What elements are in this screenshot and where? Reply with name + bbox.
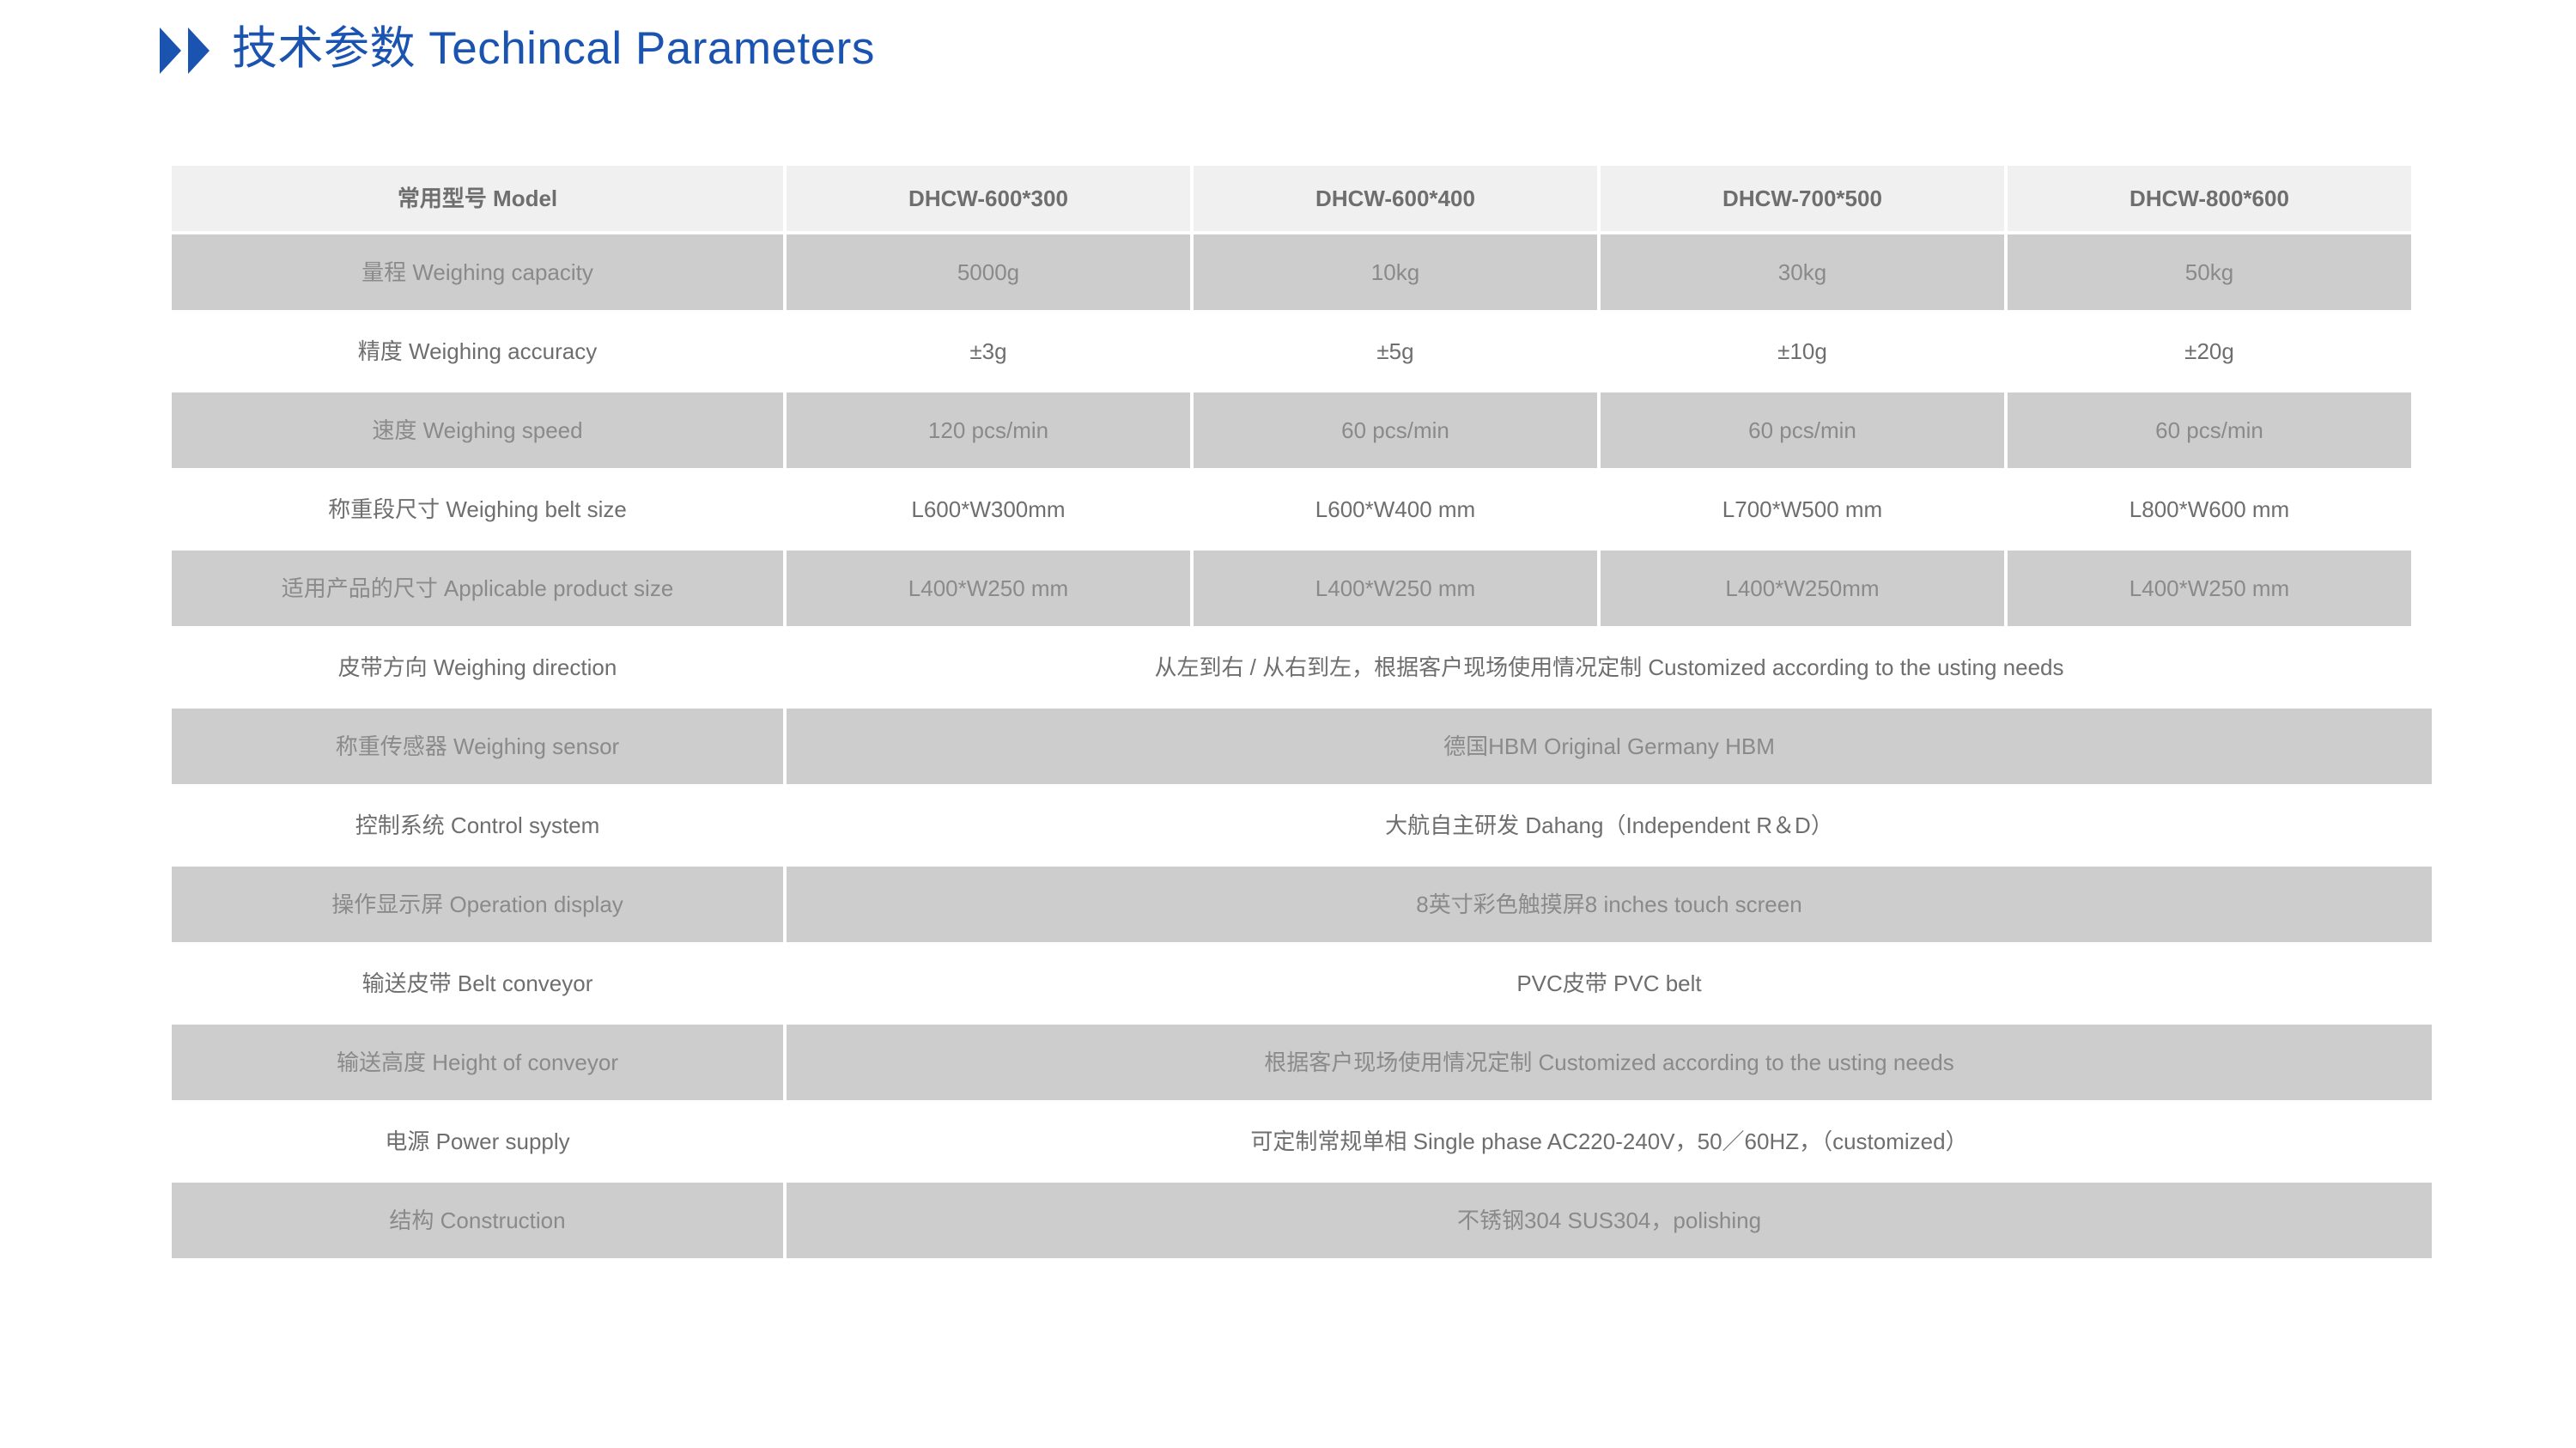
table-row: 电源 Power supply可定制常规单相 Single phase AC22… <box>172 1104 2432 1179</box>
table-row: 皮带方向 Weighing direction从左到右 / 从右到左，根据客户现… <box>172 630 2432 705</box>
row-value: 30kg <box>1601 234 2004 310</box>
row-value: ±20g <box>2008 313 2411 389</box>
column-header-4: DHCW-800*600 <box>2008 166 2411 231</box>
table-header-row: 常用型号 ModelDHCW-600*300DHCW-600*400DHCW-7… <box>172 166 2432 231</box>
row-value: L400*W250 mm <box>2008 551 2411 626</box>
page-title: 技术参数 Techincal Parameters <box>160 22 875 74</box>
row-value-merged: 从左到右 / 从右到左，根据客户现场使用情况定制 Customized acco… <box>787 630 2432 705</box>
row-value: ±10g <box>1601 313 2004 389</box>
row-value: 120 pcs/min <box>787 392 1190 468</box>
double-triangle-icon <box>160 27 210 74</box>
table-row: 精度 Weighing accuracy±3g±5g±10g±20g <box>172 313 2432 389</box>
table-row: 输送高度 Height of conveyor根据客户现场使用情况定制 Cust… <box>172 1025 2432 1100</box>
row-value: 60 pcs/min <box>1194 392 1597 468</box>
column-header-2: DHCW-600*400 <box>1194 166 1597 231</box>
row-value: ±5g <box>1194 313 1597 389</box>
technical-parameters-page: 技术参数 Techincal Parameters 常用型号 ModelDHCW… <box>0 0 2576 1448</box>
row-label: 适用产品的尺寸 Applicable product size <box>172 551 783 626</box>
row-value: 60 pcs/min <box>2008 392 2411 468</box>
table-row: 称重段尺寸 Weighing belt sizeL600*W300mmL600*… <box>172 472 2432 547</box>
row-value: L700*W500 mm <box>1601 472 2004 547</box>
row-value: L400*W250 mm <box>1194 551 1597 626</box>
row-value: L800*W600 mm <box>2008 472 2411 547</box>
row-label: 称重段尺寸 Weighing belt size <box>172 472 783 547</box>
table-row: 结构 Construction不锈钢304 SUS304，polishing <box>172 1183 2432 1258</box>
row-label: 电源 Power supply <box>172 1104 783 1179</box>
row-value: L400*W250mm <box>1601 551 2004 626</box>
row-label: 量程 Weighing capacity <box>172 234 783 310</box>
row-value-merged: 可定制常规单相 Single phase AC220-240V，50／60HZ，… <box>787 1104 2432 1179</box>
row-label: 结构 Construction <box>172 1183 783 1258</box>
row-label: 控制系统 Control system <box>172 788 783 863</box>
table-row: 适用产品的尺寸 Applicable product sizeL400*W250… <box>172 551 2432 626</box>
row-value: L400*W250 mm <box>787 551 1190 626</box>
row-value-merged: 不锈钢304 SUS304，polishing <box>787 1183 2432 1258</box>
row-label: 速度 Weighing speed <box>172 392 783 468</box>
column-header-model: 常用型号 Model <box>172 166 783 231</box>
row-value: 5000g <box>787 234 1190 310</box>
row-label: 输送皮带 Belt conveyor <box>172 946 783 1021</box>
row-value-merged: 大航自主研发 Dahang（Independent R＆D） <box>787 788 2432 863</box>
page-title-text: 技术参数 Techincal Parameters <box>232 26 875 71</box>
row-value: 50kg <box>2008 234 2411 310</box>
row-value: L600*W400 mm <box>1194 472 1597 547</box>
row-label: 输送高度 Height of conveyor <box>172 1025 783 1100</box>
table-row: 量程 Weighing capacity5000g10kg30kg50kg <box>172 234 2432 310</box>
row-value-merged: 根据客户现场使用情况定制 Customized according to the… <box>787 1025 2432 1100</box>
row-value-merged: PVC皮带 PVC belt <box>787 946 2432 1021</box>
row-label: 操作显示屏 Operation display <box>172 867 783 942</box>
row-value: ±3g <box>787 313 1190 389</box>
table-row: 输送皮带 Belt conveyorPVC皮带 PVC belt <box>172 946 2432 1021</box>
row-label: 精度 Weighing accuracy <box>172 313 783 389</box>
row-value: 60 pcs/min <box>1601 392 2004 468</box>
table-row: 速度 Weighing speed120 pcs/min60 pcs/min60… <box>172 392 2432 468</box>
row-value: 10kg <box>1194 234 1597 310</box>
row-label: 称重传感器 Weighing sensor <box>172 709 783 784</box>
row-value-merged: 德国HBM Original Germany HBM <box>787 709 2432 784</box>
column-header-3: DHCW-700*500 <box>1601 166 2004 231</box>
table-row: 称重传感器 Weighing sensor德国HBM Original Germ… <box>172 709 2432 784</box>
row-value-merged: 8英寸彩色触摸屏8 inches touch screen <box>787 867 2432 942</box>
column-header-1: DHCW-600*300 <box>787 166 1190 231</box>
row-value: L600*W300mm <box>787 472 1190 547</box>
table-row: 控制系统 Control system大航自主研发 Dahang（Indepen… <box>172 788 2432 863</box>
table-row: 操作显示屏 Operation display8英寸彩色触摸屏8 inches … <box>172 867 2432 942</box>
row-label: 皮带方向 Weighing direction <box>172 630 783 705</box>
technical-parameters-table: 常用型号 ModelDHCW-600*300DHCW-600*400DHCW-7… <box>172 166 2432 1262</box>
